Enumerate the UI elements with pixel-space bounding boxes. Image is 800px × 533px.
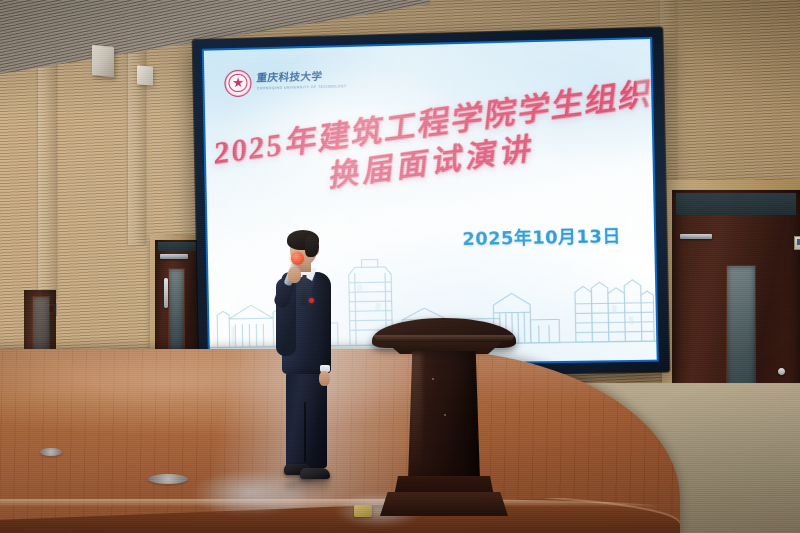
lectern-base-lower xyxy=(380,492,508,516)
lectern-stud-2 xyxy=(444,414,446,416)
door-vision-panel-left xyxy=(168,268,185,352)
slide-date: 2025年10月13日 xyxy=(462,222,621,250)
door-handle-left[interactable] xyxy=(164,278,168,308)
lectern-top-edge xyxy=(374,335,514,342)
microphone-windscreen-icon xyxy=(291,252,304,265)
door-lock-right[interactable] xyxy=(778,368,785,375)
door-closer-right xyxy=(680,234,712,239)
speaker-leg-seam xyxy=(304,402,306,462)
university-name-en: CHONGQING UNIVERSITY OF TECHNOLOGY xyxy=(257,85,347,91)
photo-scene: 重庆科技大学 CHONGQING UNIVERSITY OF TECHNOLOG… xyxy=(0,0,800,533)
door-vision-panel-right xyxy=(726,265,756,392)
speaker-hand-lowered xyxy=(319,371,330,386)
door-badge-right xyxy=(794,236,800,250)
speaker-floor-shadow xyxy=(284,478,330,494)
speaker-shoe-right xyxy=(300,468,330,479)
door-transom-left xyxy=(158,242,196,251)
university-logo: 重庆科技大学 CHONGQING UNIVERSITY OF TECHNOLOG… xyxy=(224,67,347,97)
floor-debris-object xyxy=(354,505,372,517)
speaker-hair-side xyxy=(305,235,319,257)
university-wordmark: 重庆科技大学 CHONGQING UNIVERSITY OF TECHNOLOG… xyxy=(257,72,347,90)
lectern-highlight xyxy=(410,354,422,474)
door-transom-right xyxy=(676,193,796,215)
wall-speaker xyxy=(92,45,114,77)
lectern-stud-1 xyxy=(432,378,434,380)
door-closer-left xyxy=(160,254,188,259)
university-name-cn: 重庆科技大学 xyxy=(256,72,347,85)
speaker-lapel-badge xyxy=(309,298,314,303)
speaker-person xyxy=(272,232,342,484)
wall-control-panel[interactable] xyxy=(137,65,153,85)
university-star-emblem-icon xyxy=(224,69,252,97)
stage-floor-socket-2 xyxy=(148,474,188,484)
speaker-hand-holding-mic xyxy=(288,267,301,283)
stage-floor-socket-1 xyxy=(40,448,62,456)
wooden-lectern[interactable] xyxy=(372,318,516,516)
star-icon xyxy=(233,77,244,88)
